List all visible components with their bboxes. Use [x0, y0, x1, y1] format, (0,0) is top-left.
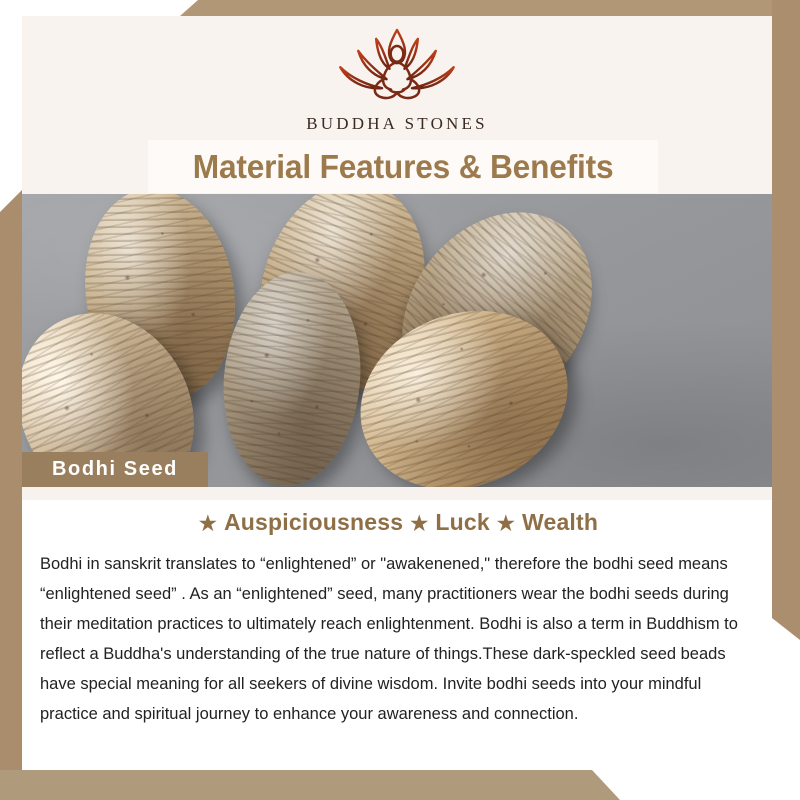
- star-icon: ★: [497, 513, 515, 535]
- star-icon: ★: [410, 513, 428, 535]
- frame-band-top: [180, 0, 800, 16]
- star-icon: ★: [199, 513, 217, 535]
- title-banner: Material Features & Benefits: [148, 140, 658, 193]
- brand-header: BUDDHA STONES: [22, 16, 772, 146]
- frame-band-bottom: [0, 770, 620, 800]
- product-name-text: Bodhi Seed: [52, 458, 178, 481]
- frame-band-left: [0, 190, 22, 790]
- frame-band-right: [772, 0, 800, 640]
- benefit-label-auspiciousness: Auspiciousness: [224, 509, 403, 535]
- lotus-meditation-icon: [322, 24, 472, 112]
- product-infographic-poster: BUDDHA STONES Material Features & Benefi…: [0, 0, 800, 800]
- benefit-label-wealth: Wealth: [522, 509, 598, 535]
- page-title: Material Features & Benefits: [193, 148, 614, 186]
- bodhi-seeds-photo: [22, 194, 772, 487]
- description-panel: ★Auspiciousness★Luck★Wealth Bodhi in san…: [22, 487, 772, 770]
- product-name-label: Bodhi Seed: [22, 452, 208, 487]
- benefit-label-luck: Luck: [435, 509, 489, 535]
- description-text: Bodhi in sanskrit translates to “enlight…: [40, 549, 756, 729]
- panel-top-strip: [22, 487, 772, 500]
- brand-name: BUDDHA STONES: [306, 114, 488, 134]
- benefits-headline: ★Auspiciousness★Luck★Wealth: [22, 509, 772, 536]
